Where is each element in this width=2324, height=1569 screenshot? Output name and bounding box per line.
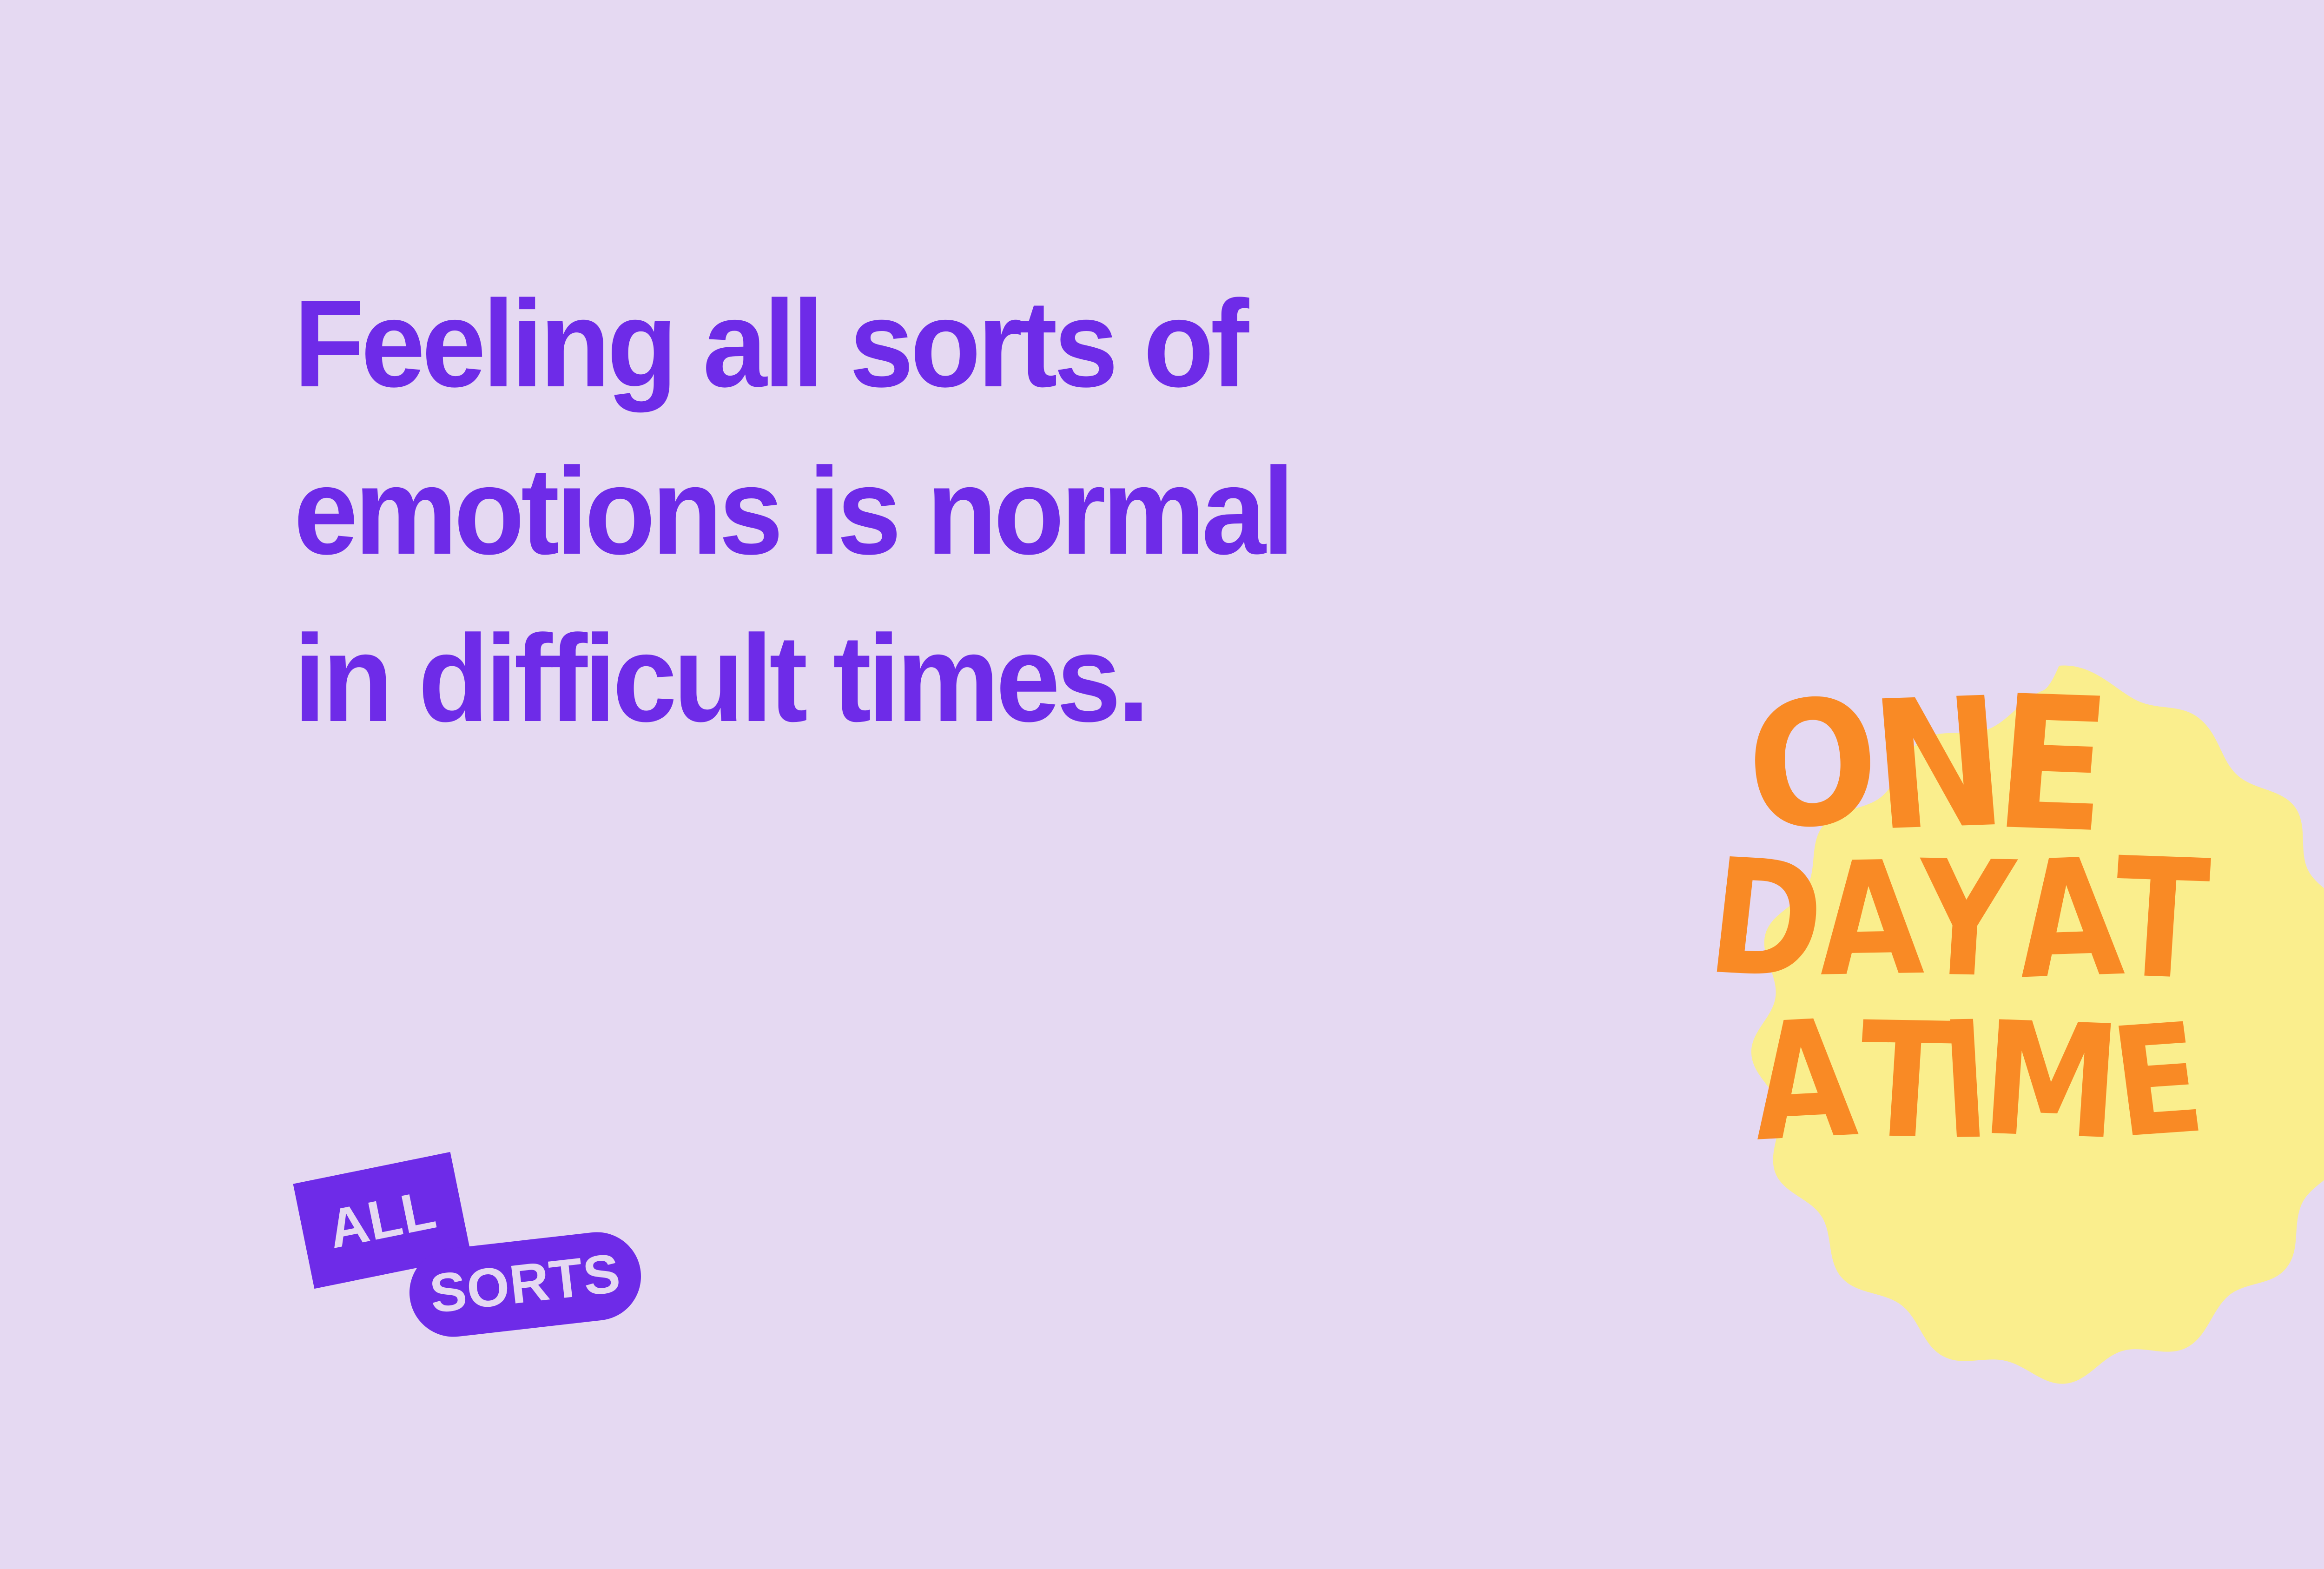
headline-line-2: emotions is normal: [294, 428, 1424, 595]
headline-line-3: in difficult times.: [294, 595, 1424, 762]
logo-label-all: ALL: [324, 1182, 440, 1257]
one-day-at-a-time-sticker: O N E D A Y A T A T I M E: [1692, 660, 2324, 1492]
allsorts-logo[interactable]: ALL SORTS: [302, 1158, 674, 1353]
headline-block: Feeling all sorts of emotions is normal …: [294, 260, 1502, 762]
headline-line-1: Feeling all sorts of: [294, 260, 1424, 428]
sticker-blob-shape: [1692, 660, 2324, 1492]
logo-label-sorts: SORTS: [427, 1245, 623, 1322]
poster-canvas: Feeling all sorts of emotions is normal …: [0, 0, 2324, 1569]
